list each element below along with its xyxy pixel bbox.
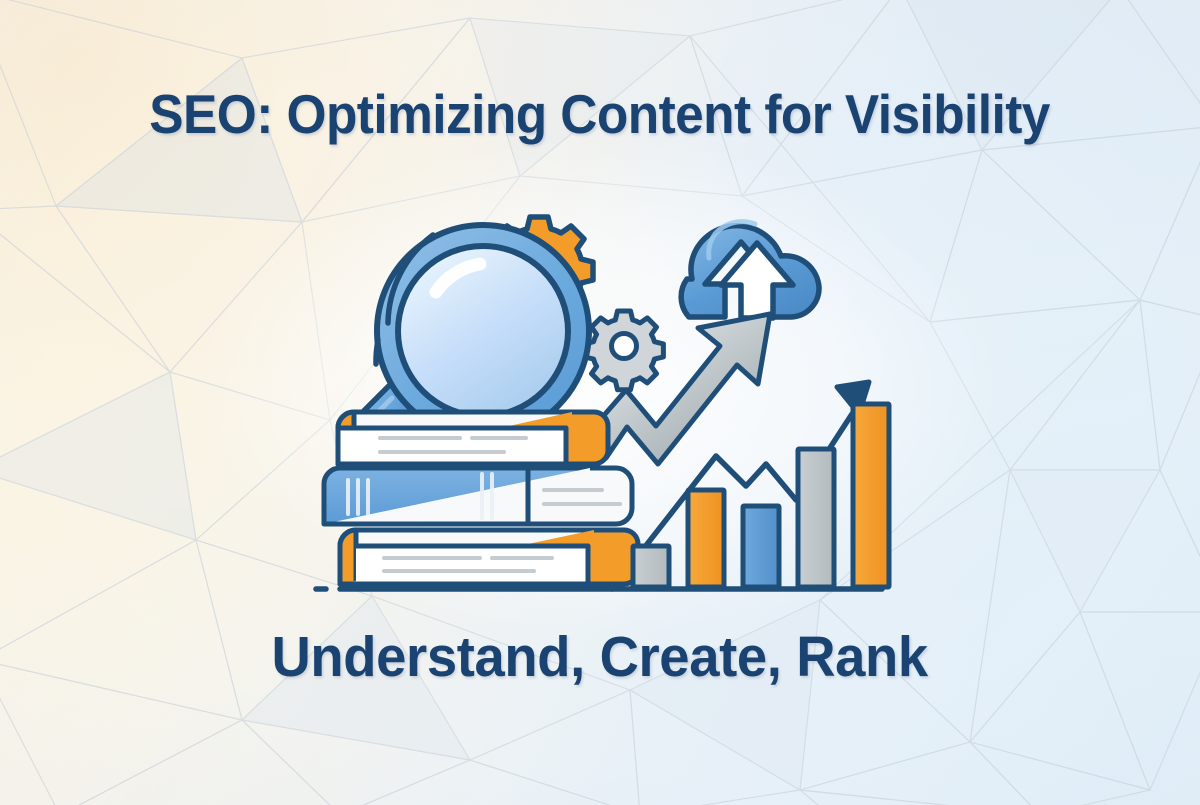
page-subtitle: Understand, Create, Rank <box>272 628 928 688</box>
banner-subtitle-container: Understand, Create, Rank <box>0 628 1200 688</box>
bar-1 <box>633 546 669 587</box>
seo-illustration: SEO illustration: magnifying glass, gear… <box>296 168 906 608</box>
book-stack-icon <box>324 412 638 584</box>
bar-4 <box>798 449 834 587</box>
seo-banner: SEO: Optimizing Content for Visibility S… <box>0 0 1200 805</box>
page-title: SEO: Optimizing Content for Visibility <box>150 86 1051 144</box>
book-top <box>338 412 608 464</box>
magnifier-lens <box>398 246 568 416</box>
bar-3 <box>743 506 779 587</box>
bar-5 <box>853 404 889 587</box>
illustration-svg: SEO illustration: magnifying glass, gear… <box>296 168 906 608</box>
gear-small-icon <box>585 311 664 390</box>
cloud-upload-icon <box>681 222 819 318</box>
book-middle <box>324 468 632 524</box>
bar-2 <box>688 490 724 587</box>
banner-title-container: SEO: Optimizing Content for Visibility <box>0 86 1200 144</box>
book-bottom <box>340 530 638 584</box>
